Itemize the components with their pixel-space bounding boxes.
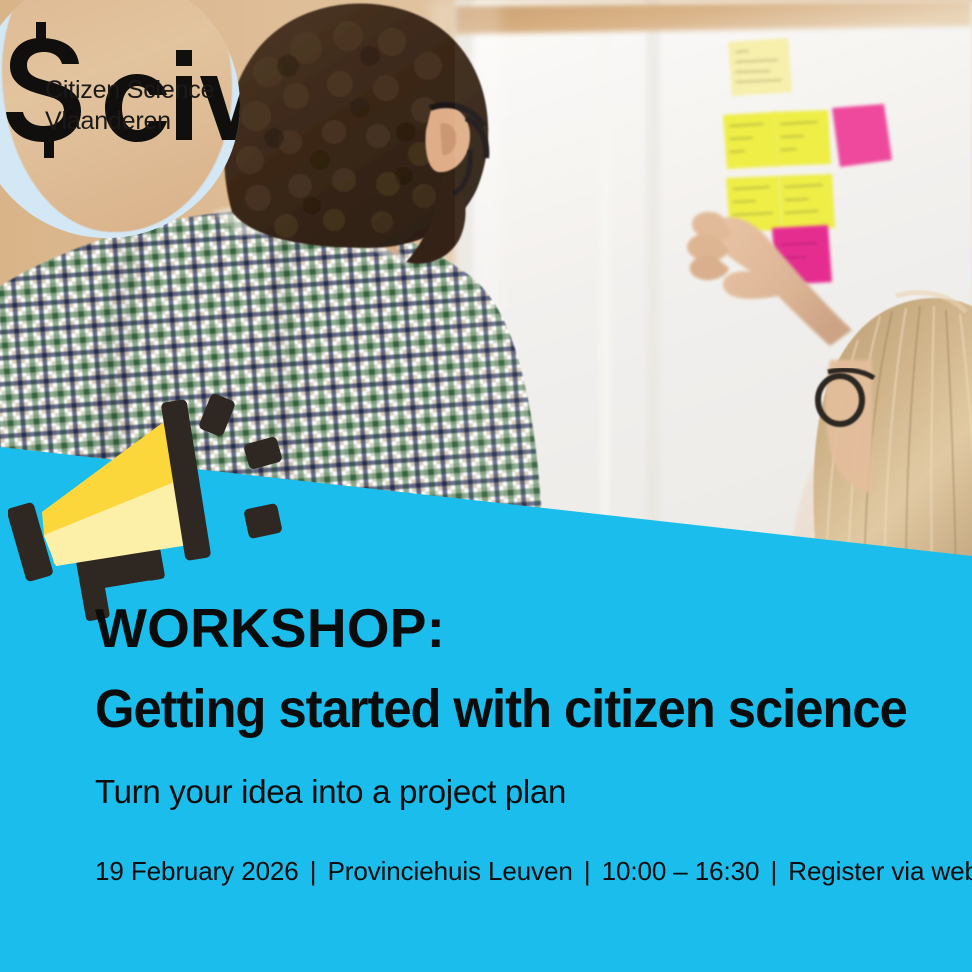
meta-separator-3: | [766, 856, 781, 886]
logo-tagline: Citizen Science Vlaanderen [45, 75, 214, 136]
megaphone-burst-1 [198, 393, 236, 438]
meta-separator-2: | [580, 856, 595, 886]
event-time: 10:00 – 16:30 [602, 856, 760, 886]
subtitle: Turn your idea into a project plan [95, 772, 915, 812]
scivil-logo-badge: Citizen Science Vlaanderen [0, 0, 240, 238]
event-meta: 19 February 2026 | Provinciehuis Leuven … [95, 856, 915, 887]
megaphone-burst-3 [243, 503, 282, 539]
workshop-promo-poster: Citizen Science Vlaanderen WO [0, 0, 972, 972]
megaphone-burst-2 [243, 436, 283, 470]
meta-separator-1: | [306, 856, 321, 886]
event-venue: Provinciehuis Leuven [328, 856, 573, 886]
page-title: Getting started with citizen science [95, 680, 866, 738]
event-date: 19 February 2026 [95, 856, 299, 886]
megaphone-icon [8, 372, 318, 622]
kicker-label: WORKSHOP: [95, 600, 915, 658]
registration-cta[interactable]: Register via website [788, 856, 972, 886]
poster-text-block: WORKSHOP: Getting started with citizen s… [95, 600, 915, 887]
